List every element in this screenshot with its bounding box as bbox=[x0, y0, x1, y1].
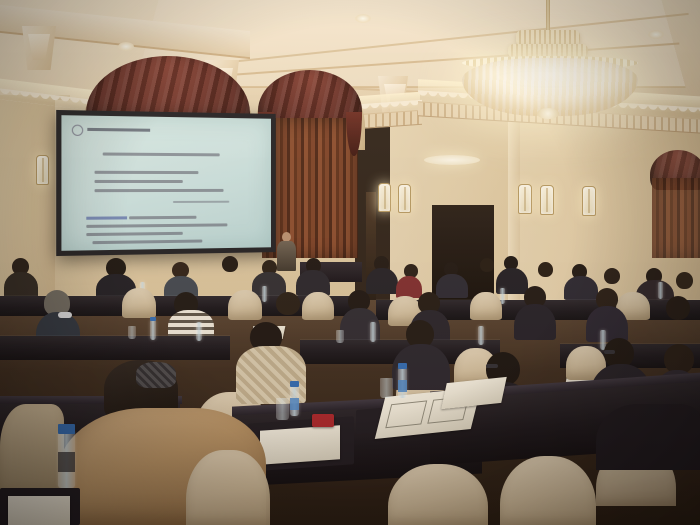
handout-paper bbox=[8, 496, 70, 525]
ceiling-corbel bbox=[22, 26, 56, 70]
bottle-label bbox=[398, 380, 407, 392]
wall-sconce bbox=[518, 184, 532, 214]
slide-body-line bbox=[86, 216, 127, 219]
drinking-glass bbox=[380, 378, 393, 398]
attendee-body bbox=[564, 276, 598, 300]
attendee-body bbox=[366, 268, 398, 294]
slide-source-note bbox=[173, 201, 229, 203]
wall-sconce bbox=[398, 184, 411, 213]
attendee-head bbox=[222, 256, 238, 272]
wall-sconce bbox=[540, 185, 554, 215]
water-bottle bbox=[370, 322, 376, 342]
bottle-label bbox=[290, 398, 299, 410]
recessed-downlight bbox=[355, 14, 371, 23]
attendee-head bbox=[276, 292, 300, 315]
attendee-body bbox=[514, 304, 556, 340]
slide-body-line bbox=[86, 223, 227, 228]
eyeglasses-icon bbox=[604, 350, 615, 354]
conference-room-photo bbox=[0, 0, 700, 525]
projection-screen bbox=[61, 115, 271, 251]
attendee-body bbox=[586, 306, 628, 342]
chair bbox=[0, 404, 64, 496]
ceiling-light-fixture bbox=[424, 155, 480, 165]
slide-body-line bbox=[86, 232, 182, 236]
slide-bullet bbox=[95, 171, 199, 174]
slide-body-line bbox=[129, 216, 196, 220]
attendee-body bbox=[4, 272, 38, 298]
attendee-head bbox=[666, 296, 690, 320]
water-bottle bbox=[150, 320, 156, 340]
slide-title bbox=[87, 128, 150, 132]
attendee-head bbox=[604, 268, 620, 284]
attendee-body-red bbox=[396, 276, 422, 298]
attendee-body bbox=[252, 272, 286, 296]
hair-clip bbox=[136, 362, 176, 388]
organization-logo-icon bbox=[72, 125, 83, 136]
attendee-body bbox=[436, 274, 468, 298]
chair bbox=[228, 290, 262, 320]
handout-paper bbox=[260, 425, 340, 465]
chair bbox=[470, 292, 502, 320]
paper-diagram bbox=[385, 400, 427, 428]
water-bottle bbox=[478, 326, 484, 345]
drinking-glass bbox=[128, 326, 136, 339]
drinking-glass bbox=[336, 330, 344, 343]
shirt-collar bbox=[58, 312, 72, 318]
eyeglasses-icon bbox=[486, 364, 498, 368]
bottle-cap bbox=[150, 317, 156, 321]
slide-bullet bbox=[95, 180, 183, 183]
curtain-drape-right bbox=[262, 118, 358, 258]
projection-screen-frame bbox=[56, 110, 275, 256]
water-bottle bbox=[658, 282, 663, 299]
attendee-body bbox=[596, 404, 700, 470]
slide-subtitle bbox=[103, 152, 220, 156]
attendee-head bbox=[538, 262, 553, 277]
chair bbox=[302, 292, 334, 320]
attendee-head bbox=[676, 272, 693, 289]
slide-body-line bbox=[92, 240, 202, 245]
wall-sconce bbox=[36, 155, 49, 185]
recessed-downlight bbox=[118, 42, 134, 51]
bottle-cap bbox=[290, 381, 299, 387]
recessed-downlight bbox=[648, 30, 664, 39]
red-pouch bbox=[312, 414, 334, 427]
attendee-head bbox=[480, 258, 494, 272]
presenter-body bbox=[277, 241, 296, 271]
chandelier-finial bbox=[537, 108, 559, 119]
drinking-glass bbox=[276, 398, 289, 420]
curtain-drape-far-right bbox=[652, 178, 700, 258]
bottle-label bbox=[58, 452, 75, 472]
chandelier-rod bbox=[546, 0, 550, 34]
slide-bullet bbox=[95, 189, 224, 192]
wall-sconce bbox=[378, 183, 391, 212]
bottle-cap bbox=[398, 363, 407, 369]
water-bottle bbox=[196, 322, 202, 341]
chair bbox=[122, 288, 156, 318]
bottle-cap bbox=[58, 424, 75, 434]
water-bottle bbox=[262, 286, 267, 302]
wall-sconce bbox=[582, 186, 596, 216]
